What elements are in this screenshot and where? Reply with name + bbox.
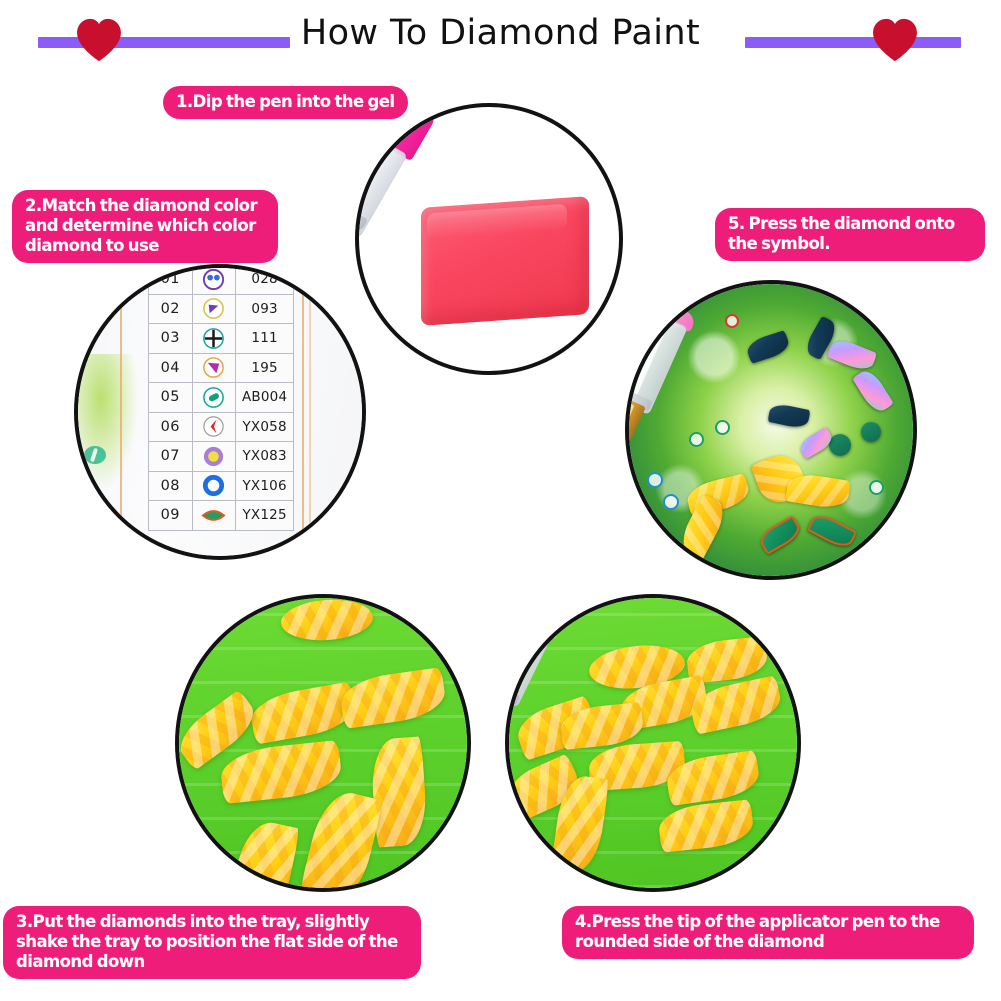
canvas-bleed <box>78 354 144 504</box>
table-row: 07 YX083 <box>149 442 294 472</box>
table-row: 09 YX125 <box>149 501 294 531</box>
chart-row-code: 195 <box>236 353 294 383</box>
photo-color-chart: 01 028 02 093 03 <box>74 264 366 560</box>
gel-pad <box>421 196 589 326</box>
chart-row-code: 028 <box>236 268 294 294</box>
teal-capsule-icon <box>192 383 236 413</box>
green-leaf-icon <box>192 501 236 531</box>
canvas-symbol-blot <box>84 446 106 464</box>
round-gem <box>861 422 881 442</box>
photo-place-on-symbol <box>625 280 917 580</box>
step-label-3: 3.Put the diamonds into the tray, slight… <box>3 906 421 979</box>
infographic-page: How To Diamond Paint 01 <box>0 0 1001 1001</box>
blue-ring-icon <box>192 471 236 501</box>
color-chart-table: 01 028 02 093 03 <box>148 268 294 531</box>
chart-row-code: AB004 <box>236 383 294 413</box>
step-label-2: 2.Match the diamond color and determine … <box>12 190 278 263</box>
step-label-4: 4.Press the tip of the applicator pen to… <box>562 906 974 959</box>
pen-tip <box>629 399 646 444</box>
canvas-symbol <box>869 480 884 495</box>
two-dots-circle-icon <box>192 268 236 294</box>
table-row: 08 YX106 <box>149 471 294 501</box>
chart-row-number: 01 <box>149 268 193 294</box>
table-row: 04 195 <box>149 353 294 383</box>
magenta-triangle-icon <box>192 353 236 383</box>
plus-circle-icon <box>192 324 236 354</box>
chart-row-number: 09 <box>149 501 193 531</box>
step-label-1: 1.Dip the pen into the gel <box>163 86 408 119</box>
yellow-dot-ring-icon <box>192 442 236 472</box>
pen-barrel <box>359 138 408 238</box>
photo-pen-picks-diamond <box>505 594 801 892</box>
chart-margin-rule <box>309 268 311 556</box>
table-row: 02 093 <box>149 294 294 324</box>
chart-row-code: YX106 <box>236 471 294 501</box>
chart-row-number: 05 <box>149 383 193 413</box>
canvas-symbol <box>663 494 679 510</box>
chart-row-code: 093 <box>236 294 294 324</box>
chart-row-code: YX083 <box>236 442 294 472</box>
round-gem <box>829 434 851 456</box>
photo-pen-in-gel <box>355 103 623 375</box>
table-row: 01 028 <box>149 268 294 294</box>
photo-diamonds-in-tray <box>175 594 471 892</box>
chart-row-number: 03 <box>149 324 193 354</box>
chart-row-code: YX058 <box>236 412 294 442</box>
step-label-5: 5. Press the diamond onto the symbol. <box>715 208 985 261</box>
chart-row-number: 07 <box>149 442 193 472</box>
canvas-symbol <box>715 420 730 435</box>
chart-margin-rule <box>302 268 304 556</box>
table-row: 03 111 <box>149 324 294 354</box>
chart-margin-rule <box>120 268 122 556</box>
red-chevron-icon <box>192 412 236 442</box>
chart-row-number: 04 <box>149 353 193 383</box>
chart-row-code: YX125 <box>236 501 294 531</box>
canvas-symbol <box>725 314 739 328</box>
chart-row-number: 02 <box>149 294 193 324</box>
table-row: 05 AB004 <box>149 383 294 413</box>
chart-row-number: 06 <box>149 412 193 442</box>
purple-triangle-icon <box>192 294 236 324</box>
chart-row-number: 08 <box>149 471 193 501</box>
canvas-symbol <box>689 432 704 447</box>
page-title: How To Diamond Paint <box>0 13 1001 53</box>
canvas-symbol <box>647 472 663 488</box>
chart-row-code: 111 <box>236 324 294 354</box>
table-row: 06 YX058 <box>149 412 294 442</box>
